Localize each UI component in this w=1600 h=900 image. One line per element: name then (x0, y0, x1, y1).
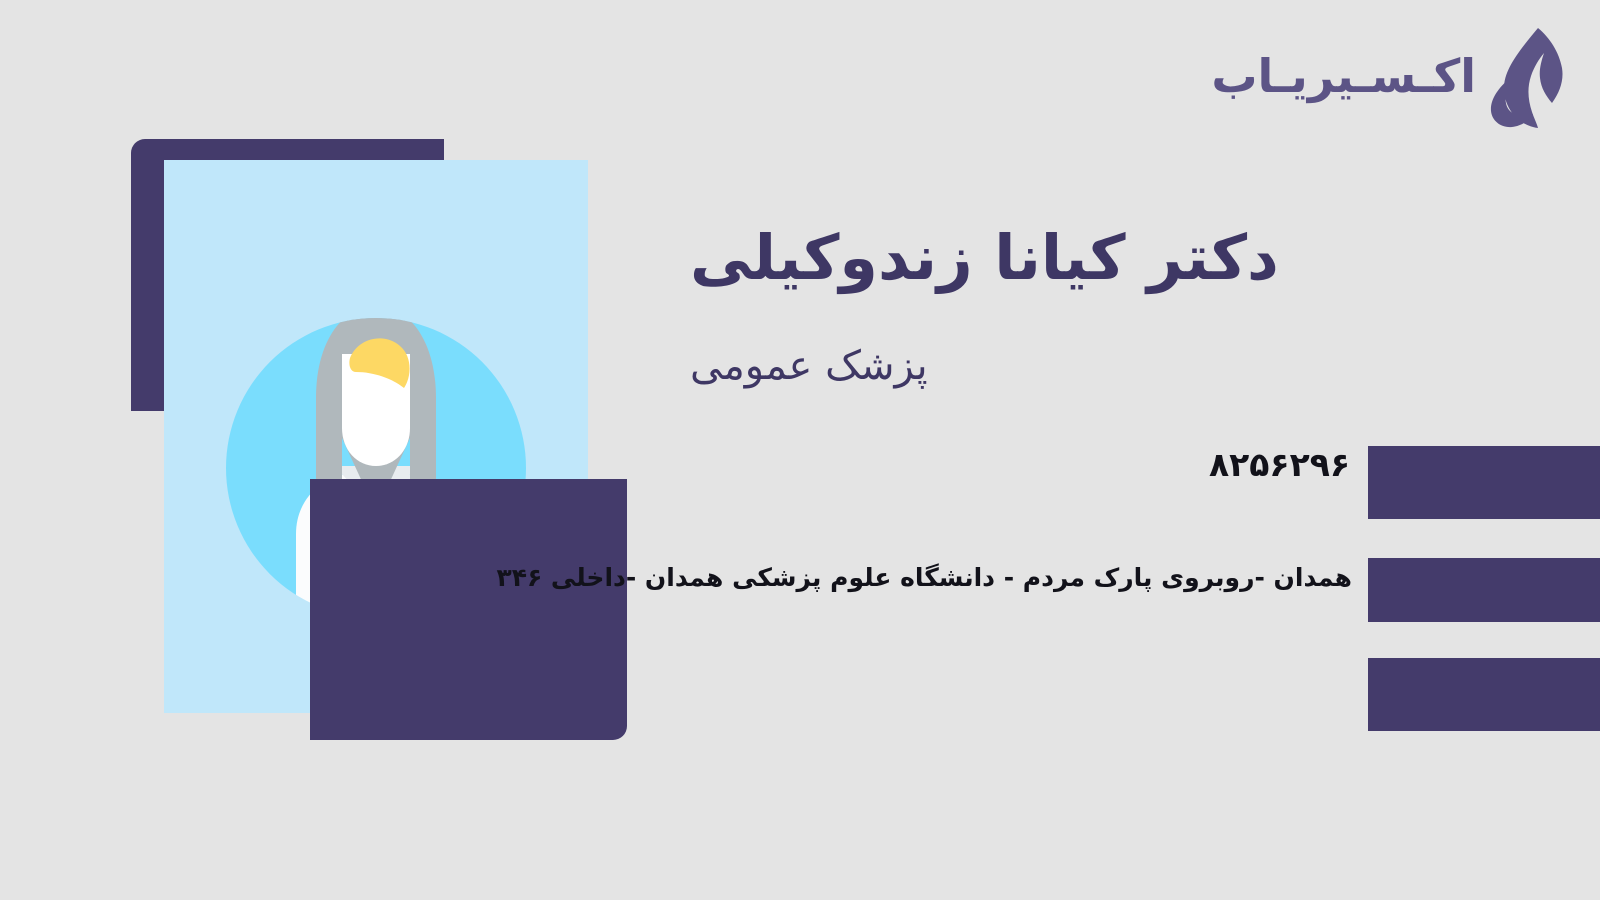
illustration-frame-front (310, 479, 627, 740)
doctor-address: همدان -روبروی پارک مردم - دانشگاه علوم پ… (496, 562, 1352, 595)
brand-name: اکـسـیریـاب (1211, 53, 1476, 103)
doctor-name: دکتر کیانا زندوکیلی (690, 222, 1510, 294)
doctor-specialty: پزشک عمومی (690, 342, 1510, 390)
decor-bar-1 (1368, 446, 1600, 519)
doctor-profile-card: اکـسـیریـاب (0, 0, 1600, 900)
decor-bar-3 (1368, 658, 1600, 731)
flame-droplet-icon (1488, 26, 1564, 130)
decor-bar-2 (1368, 558, 1600, 622)
brand-logo[interactable]: اکـسـیریـاب (1211, 26, 1564, 130)
doctor-phone[interactable]: ۸۲۵۶۲۹۶ (1209, 445, 1350, 485)
